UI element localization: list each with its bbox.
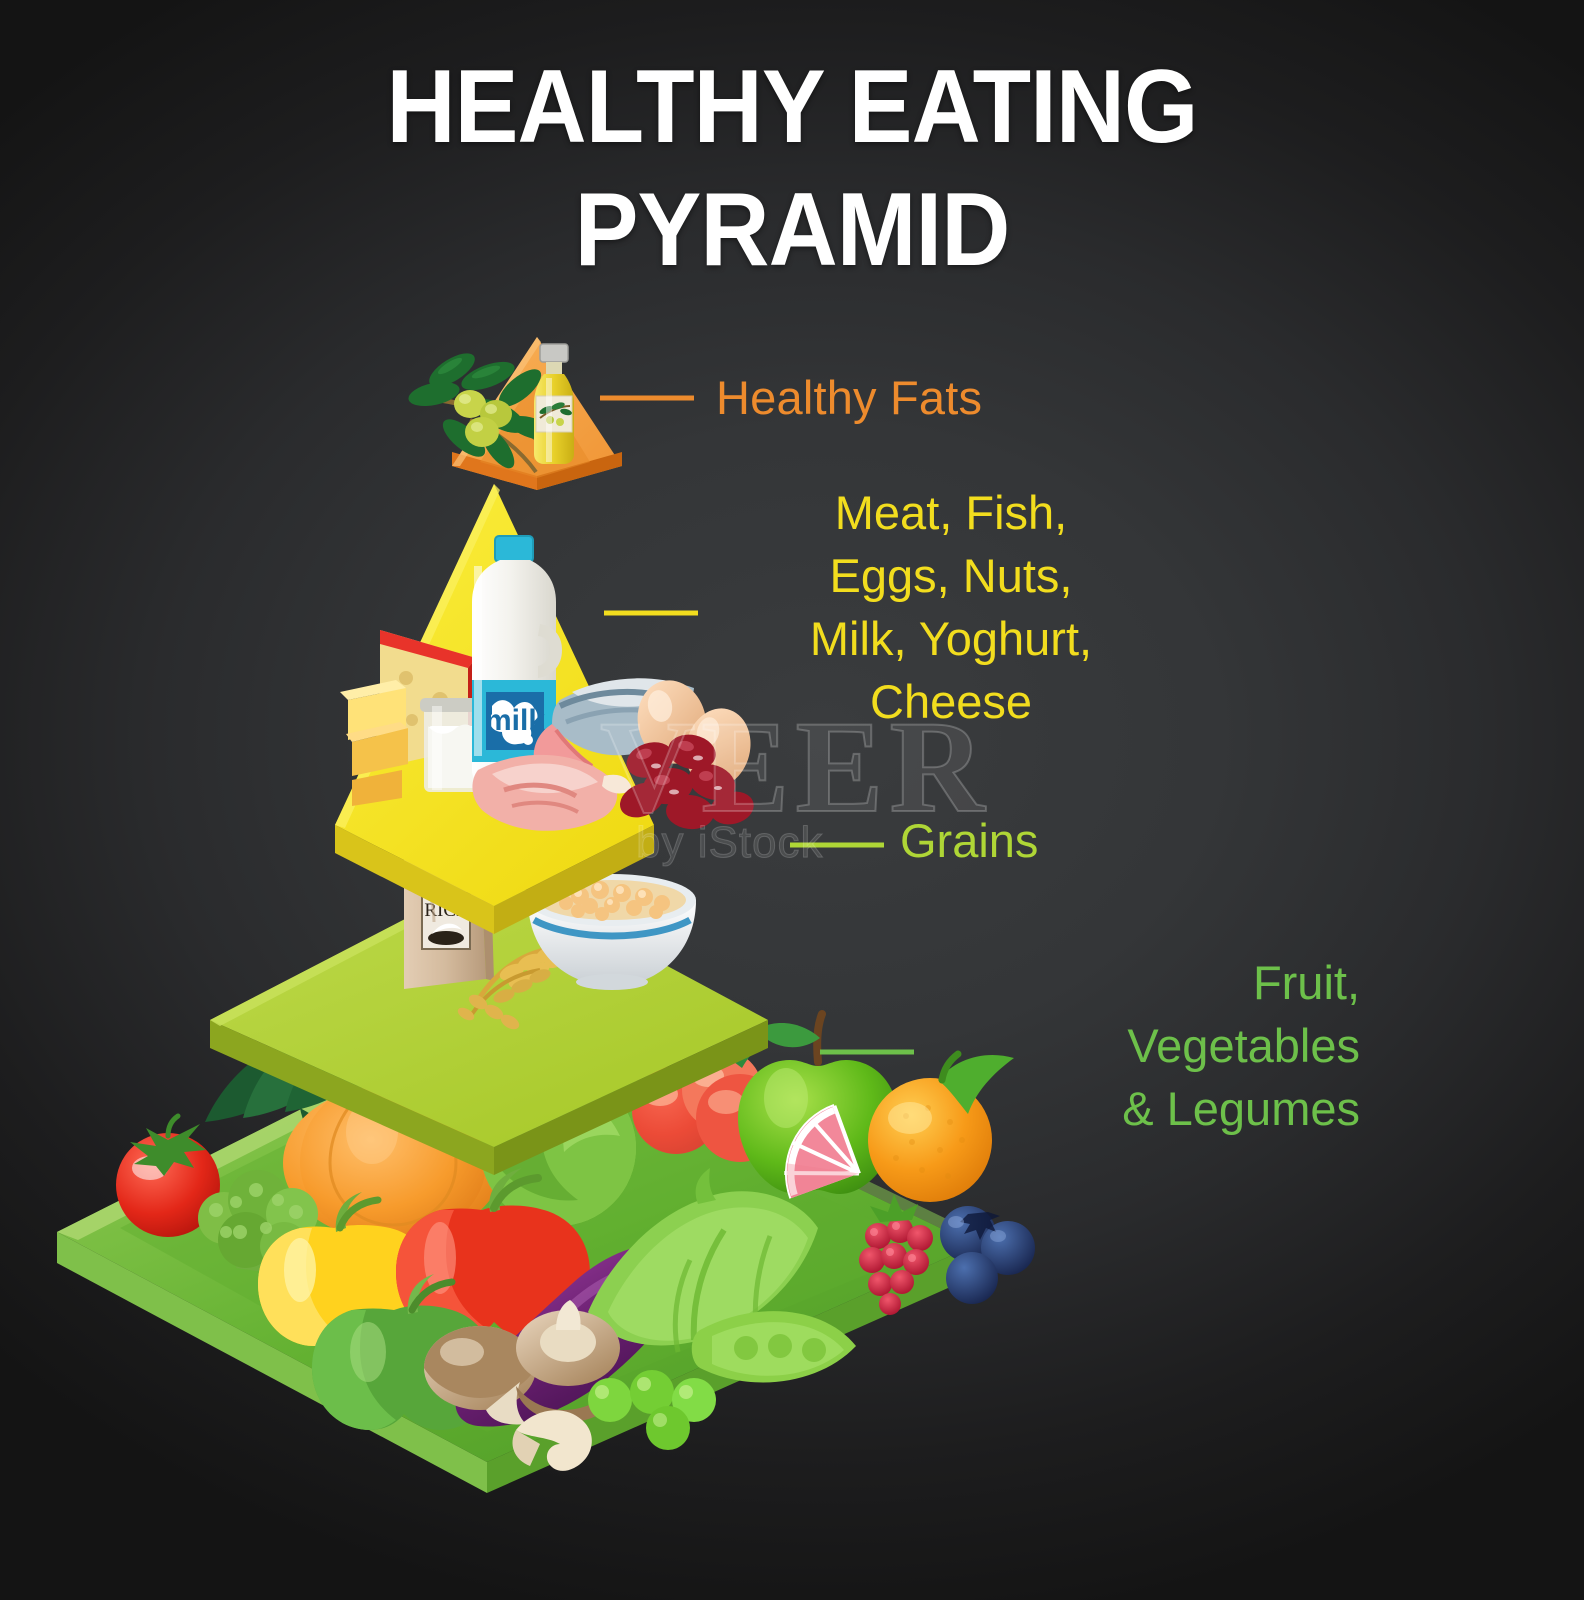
label-grains[interactable]: Grains	[900, 813, 1038, 868]
food-pyramid-graphic: RICE	[0, 0, 1584, 1600]
infographic-canvas: HEALTHY EATING PYRAMID	[0, 0, 1584, 1600]
butter-icon	[340, 680, 408, 806]
label-fruit-vegetables-legumes[interactable]: Fruit, Vegetables & Legumes	[930, 952, 1360, 1141]
milk-bottle-label: milk	[485, 704, 545, 737]
label-healthy-fats[interactable]: Healthy Fats	[716, 370, 982, 425]
blueberries-icon	[940, 1206, 1035, 1304]
label-protein-dairy[interactable]: Meat, Fish, Eggs, Nuts, Milk, Yoghurt, C…	[716, 482, 1186, 734]
